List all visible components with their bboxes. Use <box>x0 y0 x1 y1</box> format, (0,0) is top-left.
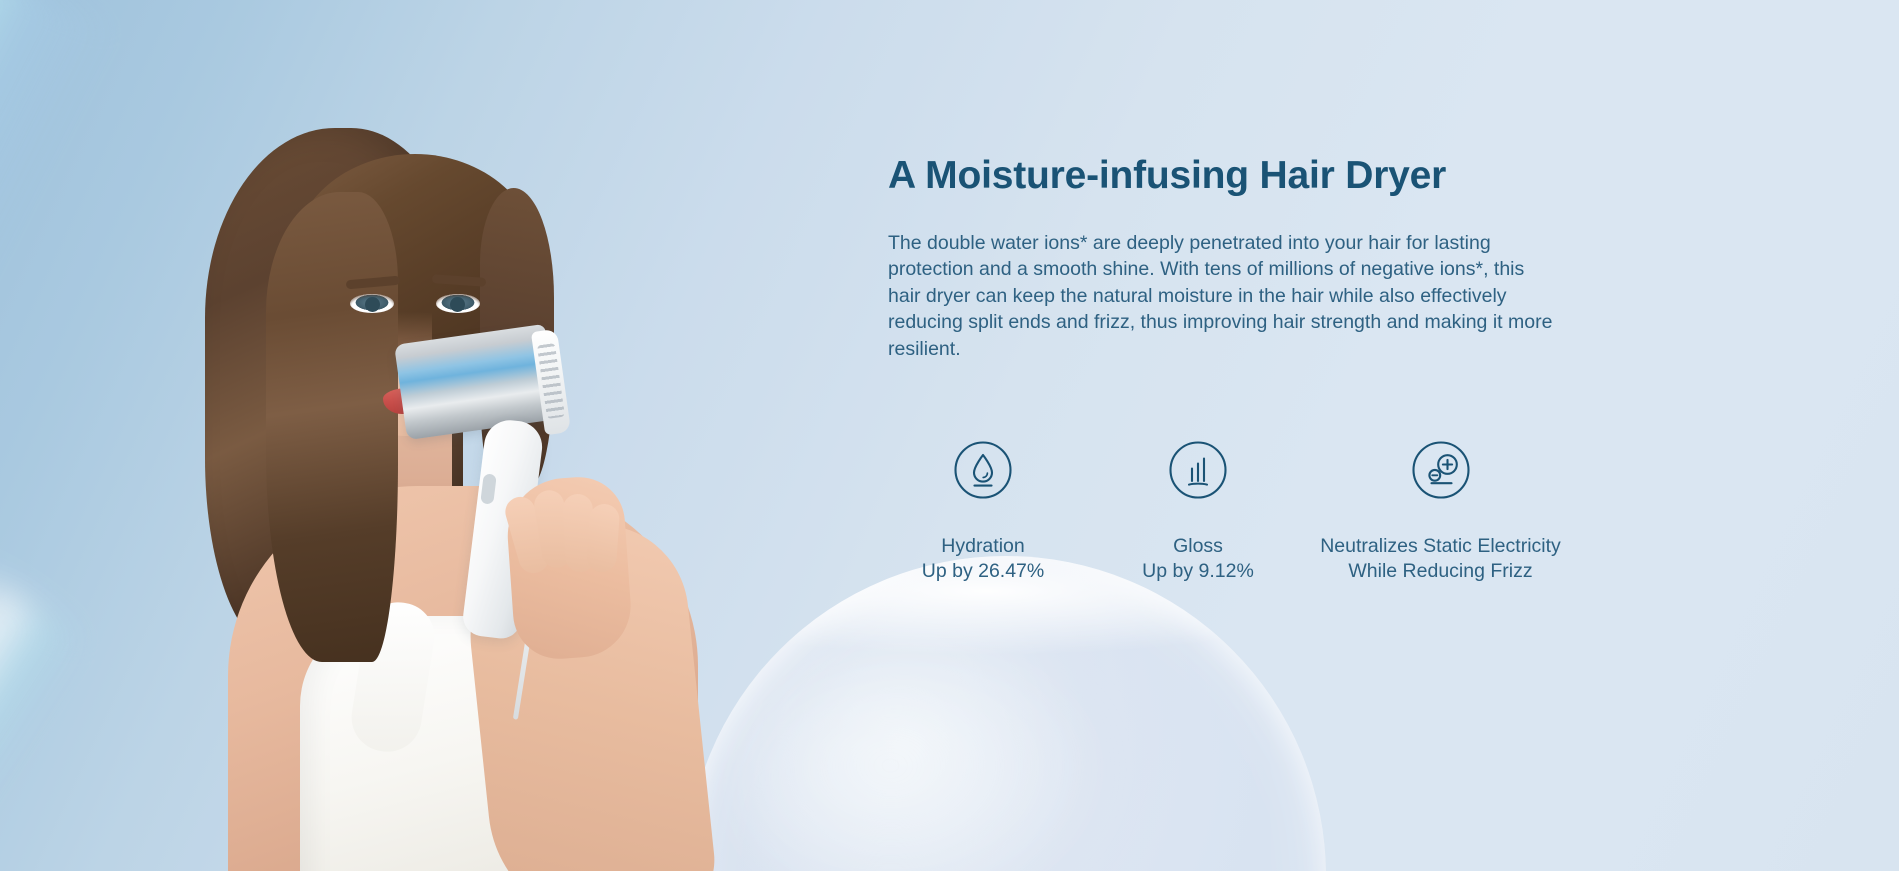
page-title: A Moisture-infusing Hair Dryer <box>888 155 1588 198</box>
feature-static-label: Neutralizes Static Electricity While Red… <box>1303 534 1578 585</box>
feature-gloss: Gloss Up by 9.12% <box>1103 440 1293 585</box>
feature-gloss-label: Gloss Up by 9.12% <box>1103 534 1293 585</box>
body-paragraph: The double water ions* are deeply penetr… <box>888 230 1556 363</box>
feature-static-electricity: Neutralizes Static Electricity While Red… <box>1303 440 1578 585</box>
soap-bubble <box>686 556 1326 871</box>
hair-dryer-product <box>400 328 630 688</box>
bar-chart-icon <box>1103 440 1293 500</box>
ribbon-strand-4 <box>0 560 86 871</box>
static-charge-icon <box>1303 440 1578 500</box>
feature-hydration: Hydration Up by 26.47% <box>888 440 1078 585</box>
model-finger-4 <box>586 503 621 573</box>
ribbon-strand-1 <box>0 0 114 871</box>
model-pupil-left <box>365 297 380 312</box>
feature-list: Hydration Up by 26.47% Gloss Up by 9.12% <box>888 440 1588 585</box>
product-feature-banner: A Moisture-infusing Hair Dryer The doubl… <box>0 0 1899 871</box>
water-drop-icon <box>888 440 1078 500</box>
model-hair-front <box>266 192 398 662</box>
feature-hydration-label: Hydration Up by 26.47% <box>888 534 1078 585</box>
banner-copy: A Moisture-infusing Hair Dryer The doubl… <box>888 155 1588 362</box>
model-pupil-right <box>450 297 465 312</box>
